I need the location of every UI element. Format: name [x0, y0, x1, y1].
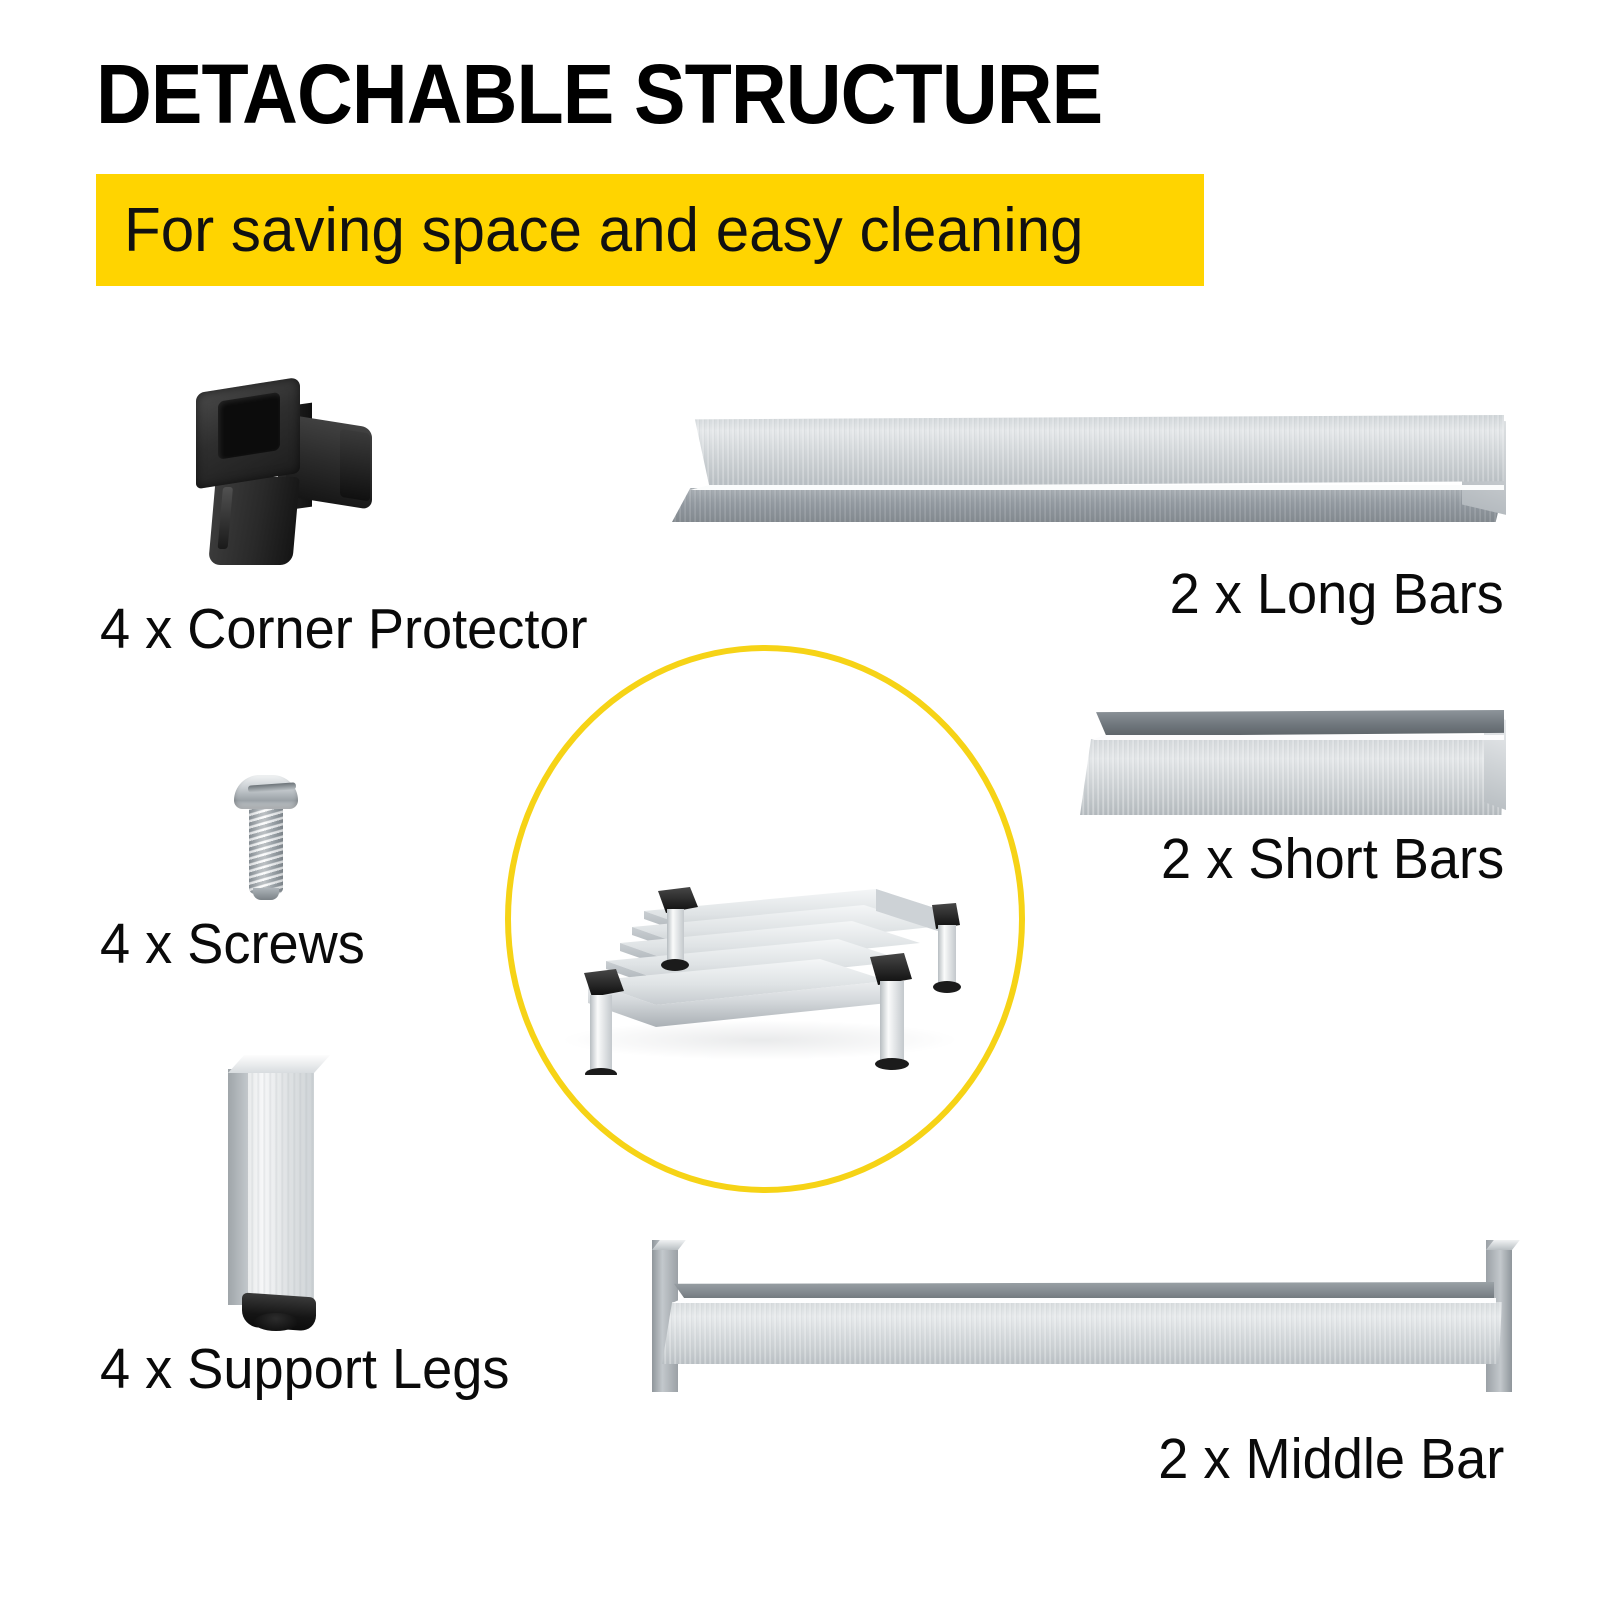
middle-bar-front-face — [662, 1302, 1502, 1364]
screws-label: 4 x Screws — [100, 911, 365, 977]
middle-bar-icon — [652, 1240, 1512, 1396]
support-leg-icon — [228, 1055, 340, 1320]
page-title: DETACHABLE STRUCTURE — [96, 52, 1102, 136]
middle-bar-right-flange-top — [1486, 1240, 1520, 1250]
corner-protector-socket-hole — [218, 392, 280, 460]
middle-bar-edge-highlight — [672, 1298, 1496, 1303]
short-bar-icon — [1080, 710, 1504, 820]
corner-protector-arm-down — [208, 477, 300, 565]
long-bar-top-face — [690, 415, 1504, 487]
support-leg-top-face — [228, 1055, 330, 1073]
long-bar-edge-highlight — [690, 485, 1504, 490]
corner-protector-arm-down-edge — [218, 487, 233, 549]
middle-bar-top-face — [674, 1282, 1494, 1300]
corner-protector-label: 4 x Corner Protector — [100, 596, 588, 662]
support-leg-front-face — [248, 1055, 314, 1307]
middle-bar-label: 2 x Middle Bar — [1158, 1426, 1504, 1492]
support-leg-side-face — [228, 1069, 250, 1305]
screw-threads — [249, 806, 283, 894]
short-bar-edge-highlight — [1092, 735, 1504, 740]
infographic-canvas: DETACHABLE STRUCTURE For saving space an… — [0, 0, 1600, 1600]
screw-head — [234, 775, 298, 809]
short-bar-top-face — [1094, 710, 1504, 736]
corner-protector-arm-right-face — [340, 429, 370, 502]
support-leg-foot-pad — [254, 1313, 298, 1331]
short-bars-label: 2 x Short Bars — [1161, 826, 1504, 892]
middle-bar-left-flange-top — [652, 1240, 686, 1250]
long-bar-icon — [672, 415, 1504, 525]
screw-icon — [228, 775, 304, 897]
short-bar-front-face — [1080, 739, 1504, 815]
corner-protector-icon — [190, 385, 390, 565]
long-bar-front-face — [672, 488, 1504, 522]
subtitle-text: For saving space and easy cleaning — [124, 186, 1083, 276]
corner-protector-socket — [196, 377, 300, 489]
support-legs-label: 4 x Support Legs — [100, 1336, 509, 1402]
long-bars-label: 2 x Long Bars — [1170, 561, 1504, 627]
screw-tip — [253, 888, 279, 900]
screw-slot — [248, 782, 296, 792]
assembled-dunnage-rack-icon — [540, 845, 980, 1075]
